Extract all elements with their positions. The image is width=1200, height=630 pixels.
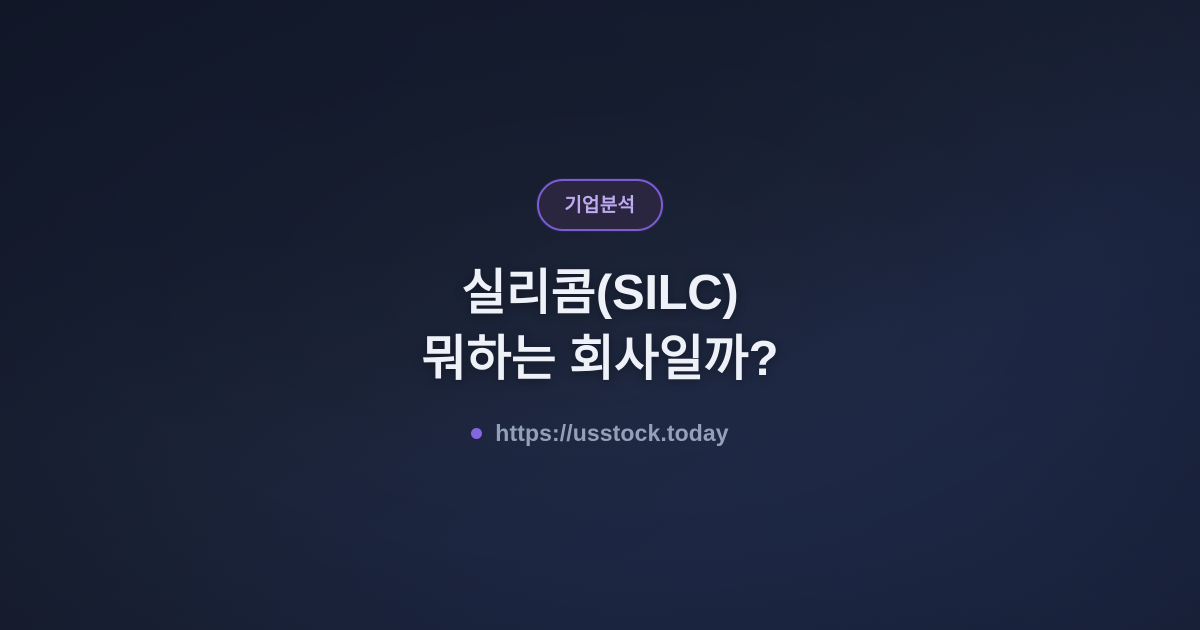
card-content: 기업분석 실리콤(SILC) 뭐하는 회사일까? https://usstock… bbox=[0, 179, 1200, 444]
site-url-row: https://usstock.today bbox=[471, 422, 728, 445]
site-url-text: https://usstock.today bbox=[495, 422, 728, 445]
category-badge: 기업분석 bbox=[537, 179, 664, 231]
title-line-2: 뭐하는 회사일까? bbox=[422, 327, 778, 392]
title-line-1: 실리콤(SILC) bbox=[422, 261, 778, 326]
page-title: 실리콤(SILC) 뭐하는 회사일까? bbox=[422, 261, 778, 391]
og-share-card: 기업분석 실리콤(SILC) 뭐하는 회사일까? https://usstock… bbox=[0, 0, 1200, 630]
bullet-dot-icon bbox=[471, 428, 482, 439]
